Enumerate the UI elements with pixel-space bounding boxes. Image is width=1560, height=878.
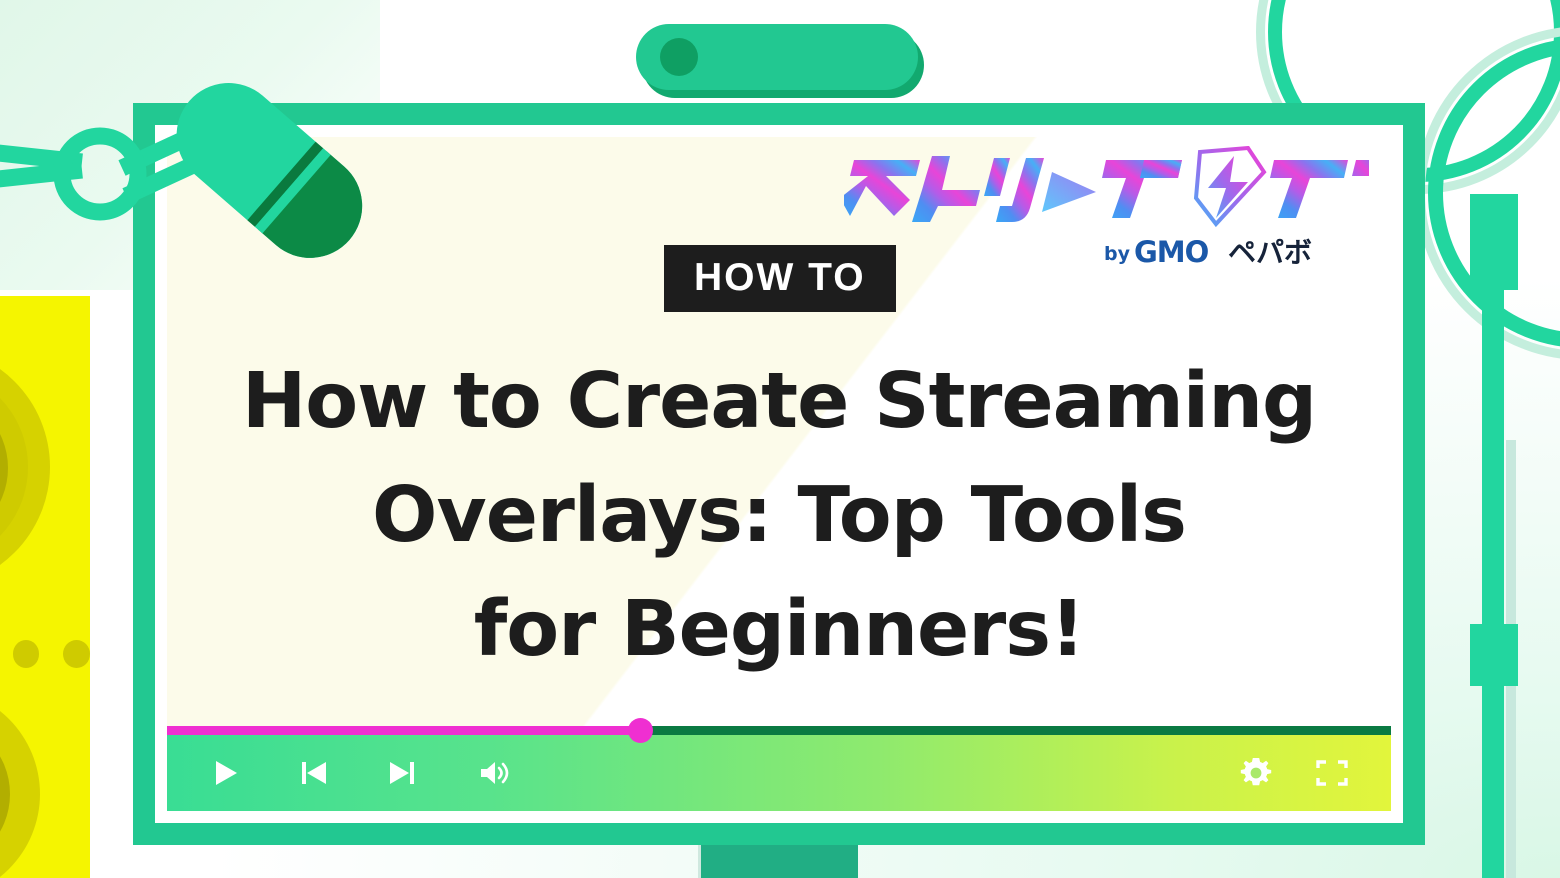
play-button[interactable] — [195, 742, 257, 804]
mic-stand-decoration — [1482, 230, 1504, 878]
speaker-decoration — [0, 296, 90, 878]
fullscreen-button[interactable] — [1301, 742, 1363, 804]
how-to-badge: HOW TO — [664, 245, 896, 312]
volume-icon — [479, 758, 513, 788]
svg-text:GMO: GMO — [1134, 235, 1209, 266]
streama-magazine-logo-icon — [844, 146, 1369, 232]
screen-content: by GMO ペパボ HOW TO How to Create Streamin… — [167, 137, 1391, 811]
fullscreen-icon — [1315, 758, 1349, 788]
next-track-button[interactable] — [371, 742, 433, 804]
speaker-dot — [63, 640, 90, 668]
video-player-controls — [167, 726, 1391, 811]
webcam-lens-icon — [660, 38, 698, 76]
progress-bar-track[interactable] — [167, 726, 1391, 735]
progress-bar-fill — [167, 726, 641, 735]
speaker-dot-row — [0, 640, 90, 668]
previous-track-icon — [299, 758, 329, 788]
play-icon — [211, 758, 241, 788]
page-title: How to Create Streaming Overlays: Top To… — [167, 345, 1391, 687]
mic-stand-adjuster-bottom — [1470, 624, 1518, 686]
previous-track-button[interactable] — [283, 742, 345, 804]
player-control-bar — [167, 735, 1391, 811]
brand-logo[interactable]: by GMO ペパボ — [844, 146, 1374, 266]
webcam-decoration — [636, 24, 918, 90]
volume-button[interactable] — [465, 742, 527, 804]
page-title-line-3: for Beginners! — [167, 573, 1391, 687]
page-title-line-1: How to Create Streaming — [167, 345, 1391, 459]
svg-text:ペパボ: ペパボ — [1228, 236, 1312, 266]
page-title-line-2: Overlays: Top Tools — [167, 459, 1391, 573]
speaker-dot — [13, 640, 40, 668]
gear-icon — [1238, 755, 1274, 791]
how-to-badge-label: HOW TO — [694, 256, 866, 299]
svg-text:by: by — [1104, 243, 1131, 265]
settings-button[interactable] — [1225, 742, 1287, 804]
gmo-pepabo-byline-icon: by GMO ペパボ — [1104, 234, 1374, 266]
next-track-icon — [387, 758, 417, 788]
mic-stand-adjuster-top — [1470, 194, 1518, 290]
monitor-stand-edge — [698, 845, 701, 878]
monitor-stand — [700, 845, 858, 878]
